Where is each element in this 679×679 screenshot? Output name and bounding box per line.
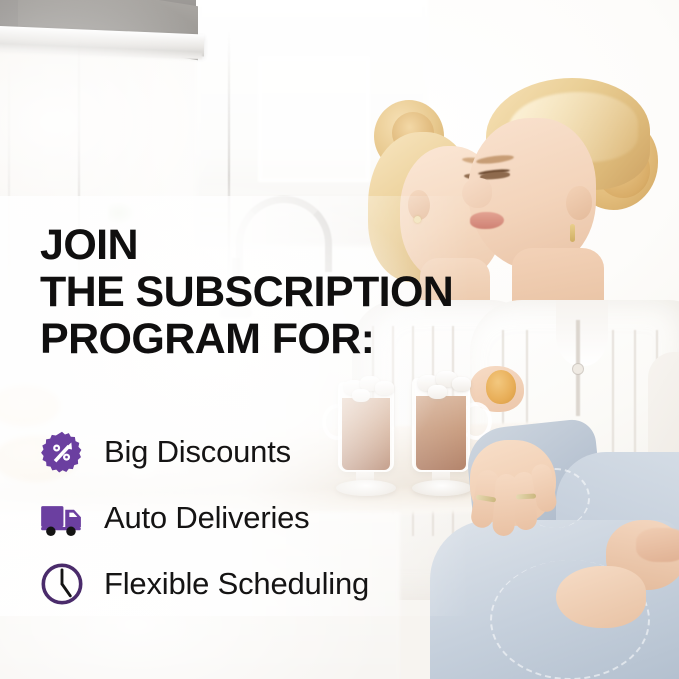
benefit-item-auto-deliveries: Auto Deliveries <box>38 494 369 542</box>
clock-icon <box>38 560 86 608</box>
benefit-item-big-discounts: Big Discounts <box>38 428 369 476</box>
headline-line-3: PROGRAM FOR: <box>40 316 453 363</box>
headline-line-1: JOIN <box>40 222 453 269</box>
text-overlay: JOIN THE SUBSCRIPTION PROGRAM FOR: <box>0 0 679 679</box>
benefit-list: Big Discounts Auto Deliveries <box>38 428 369 608</box>
delivery-truck-icon <box>38 494 86 542</box>
promo-graphic: JOIN THE SUBSCRIPTION PROGRAM FOR: <box>0 0 679 679</box>
headline: JOIN THE SUBSCRIPTION PROGRAM FOR: <box>40 222 453 363</box>
headline-line-2: THE SUBSCRIPTION <box>40 269 453 316</box>
benefit-label: Big Discounts <box>104 435 291 469</box>
discount-badge-percent-icon <box>38 428 86 476</box>
benefit-item-flexible-scheduling: Flexible Scheduling <box>38 560 369 608</box>
benefit-label: Auto Deliveries <box>104 501 309 535</box>
benefit-label: Flexible Scheduling <box>104 567 369 601</box>
